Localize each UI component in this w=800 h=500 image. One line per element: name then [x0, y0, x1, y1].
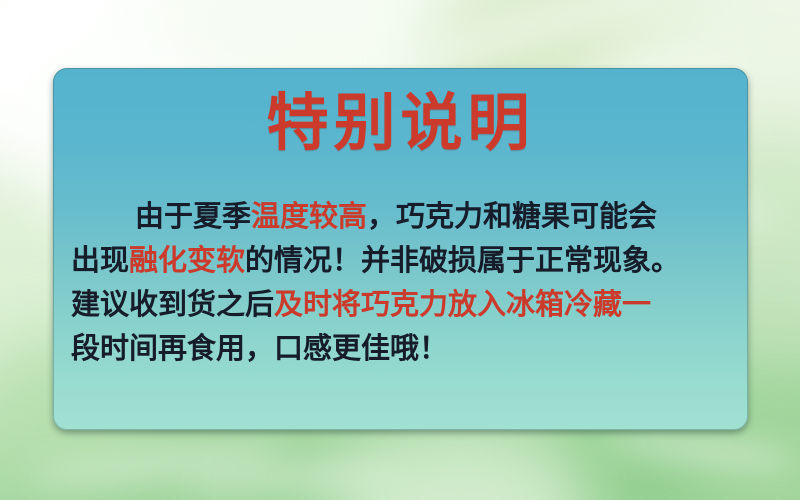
notice-plain-text: 建议收到货之后 — [71, 287, 274, 321]
special-notice-card: 特别说明 由于夏季温度较高，巧克力和糖果可能会出现融化变软的情况！并非破损属于正… — [53, 68, 748, 430]
notice-plain-text: 由于夏季 — [135, 199, 251, 233]
notice-plain-text: 的情况！并非破损属于正常现象。 — [245, 243, 680, 277]
notice-highlight-text: 融化变软 — [129, 243, 245, 277]
notice-body: 由于夏季温度较高，巧克力和糖果可能会出现融化变软的情况！并非破损属于正常现象。建… — [71, 194, 736, 370]
notice-highlight-text: 温度较高 — [251, 199, 367, 233]
notice-banner-image: 特别说明 由于夏季温度较高，巧克力和糖果可能会出现融化变软的情况！并非破损属于正… — [0, 0, 800, 500]
notice-plain-text: ，巧克力和糖果可能会 — [367, 199, 657, 233]
notice-title: 特别说明 — [53, 90, 748, 155]
notice-highlight-text: 及时将巧克力放入冰箱冷藏一 — [274, 287, 651, 321]
notice-body-line: 段时间再食用，口感更佳哦！ — [71, 326, 736, 370]
notice-plain-text: 出现 — [71, 243, 129, 277]
notice-body-line: 由于夏季温度较高，巧克力和糖果可能会 — [71, 194, 736, 238]
notice-body-line: 出现融化变软的情况！并非破损属于正常现象。 — [71, 238, 736, 282]
notice-plain-text: 段时间再食用，口感更佳哦！ — [71, 331, 448, 365]
notice-body-line: 建议收到货之后及时将巧克力放入冰箱冷藏一 — [71, 282, 736, 326]
